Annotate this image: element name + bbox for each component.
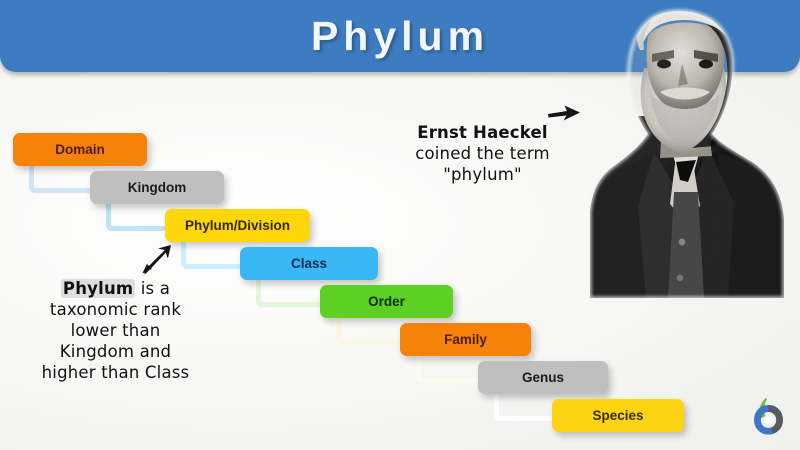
- note-left-line-4: Kingdom and: [8, 341, 223, 362]
- note-right-line-2: coined the term: [380, 143, 585, 164]
- slide-canvas: Phylum DomainKingdomPhylum/DivisionClass…: [0, 0, 800, 450]
- rank-box-family[interactable]: Family: [400, 323, 531, 356]
- rank-label: Family: [444, 332, 487, 347]
- rank-label: Order: [368, 294, 405, 309]
- rank-box-domain[interactable]: Domain: [13, 133, 147, 166]
- note-left-line-1: Phylum is a: [8, 278, 223, 299]
- note-left-line-1-rest: is a: [135, 279, 170, 298]
- rank-label: Kingdom: [128, 180, 187, 195]
- arrow-up-right-icon: [140, 243, 174, 280]
- rank-label: Class: [291, 256, 327, 271]
- rank-box-class[interactable]: Class: [240, 247, 378, 280]
- rank-label: Species: [592, 408, 643, 423]
- note-left-line-3: lower than: [8, 320, 223, 341]
- rank-label: Genus: [522, 370, 564, 385]
- haeckel-credit-note: Ernst Haeckel coined the term "phylum": [380, 122, 585, 185]
- rank-box-kingdom[interactable]: Kingdom: [90, 171, 224, 204]
- arrow-right-icon: [547, 100, 583, 131]
- rank-box-order[interactable]: Order: [320, 285, 453, 318]
- note-left-line-2: taxonomic rank: [8, 299, 223, 320]
- rank-label: Domain: [55, 142, 105, 157]
- note-right-line-3: "phylum": [380, 164, 585, 185]
- rank-label: Phylum/Division: [185, 218, 290, 233]
- phylum-definition-note: Phylum is a taxonomic rank lower than Ki…: [8, 278, 223, 383]
- ernst-haeckel-portrait: [588, 6, 786, 298]
- rank-box-genus[interactable]: Genus: [478, 361, 608, 394]
- note-left-highlight: Phylum: [61, 279, 135, 298]
- rank-box-phylum-division[interactable]: Phylum/Division: [165, 209, 310, 242]
- byjus-b-logo-icon[interactable]: [748, 396, 788, 438]
- note-left-line-5: higher than Class: [8, 362, 223, 383]
- rank-box-species[interactable]: Species: [552, 399, 684, 432]
